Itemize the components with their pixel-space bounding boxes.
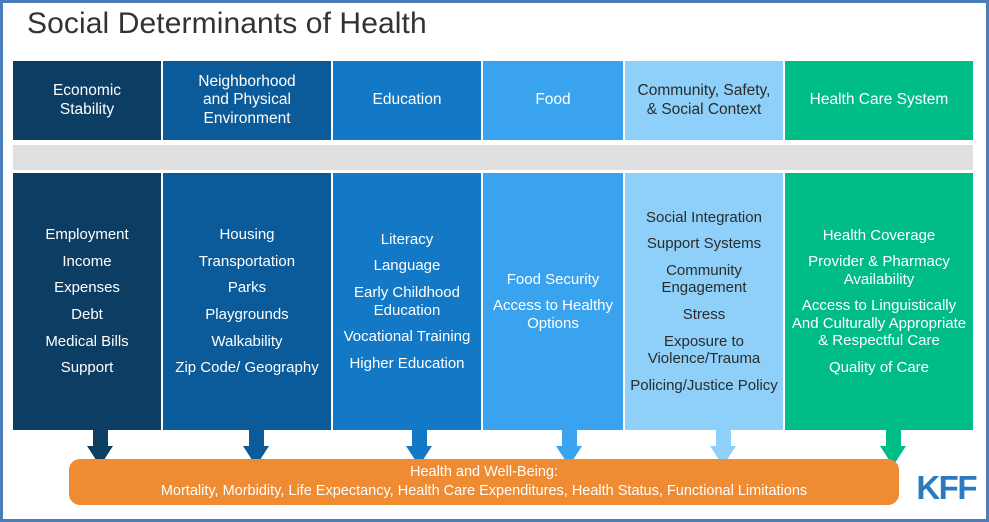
list-item: Medical Bills: [45, 333, 128, 351]
category-header-economic-stability[interactable]: EconomicStability: [13, 61, 161, 140]
separator-band: [13, 145, 973, 170]
list-item: Support Systems: [647, 235, 761, 253]
outcome-banner: Health and Well-Being: Mortality, Morbid…: [69, 459, 899, 505]
list-item: Quality of Care: [829, 359, 929, 377]
category-header-label: Neighborhoodand PhysicalEnvironment: [198, 73, 295, 128]
category-header-label: EconomicStability: [53, 82, 121, 119]
list-item: Employment: [45, 226, 128, 244]
outcome-heading: Health and Well-Being:: [410, 464, 558, 481]
list-item: Access to Healthy Options: [488, 297, 618, 332]
list-item: Expenses: [54, 279, 120, 297]
category-header-health-care-system[interactable]: Health Care System: [785, 61, 973, 140]
list-item: Exposure to Violence/Trauma: [630, 333, 778, 368]
kff-logo: KFF: [916, 469, 976, 507]
arrow-stem: [412, 430, 427, 446]
category-items-education: LiteracyLanguageEarly Childhood Educatio…: [333, 173, 481, 430]
list-item: Food Security: [507, 271, 600, 289]
list-item: Vocational Training: [344, 328, 471, 346]
category-items-health-care-system: Health CoverageProvider & Pharmacy Avail…: [785, 173, 973, 430]
category-body-row: EmploymentIncomeExpensesDebtMedical Bill…: [13, 173, 973, 430]
arrow-stem: [562, 430, 577, 446]
category-items-economic-stability: EmploymentIncomeExpensesDebtMedical Bill…: [13, 173, 161, 430]
category-header-education[interactable]: Education: [333, 61, 481, 140]
infographic-root: Social Determinants of Health EconomicSt…: [0, 0, 989, 522]
arrow-stem: [93, 430, 108, 446]
outcome-detail: Mortality, Morbidity, Life Expectancy, H…: [161, 483, 807, 500]
category-items-food: Food SecurityAccess to Healthy Options: [483, 173, 623, 430]
category-items-neighborhood-and-physical-environment: HousingTransportationParksPlaygroundsWal…: [163, 173, 331, 430]
list-item: Policing/Justice Policy: [630, 377, 778, 395]
list-item: Stress: [683, 306, 726, 324]
category-header-label: Food: [535, 91, 570, 109]
list-item: Housing: [219, 226, 274, 244]
list-item: Access to Linguistically And Culturally …: [790, 297, 968, 350]
category-header-neighborhood-and-physical-environment[interactable]: Neighborhoodand PhysicalEnvironment: [163, 61, 331, 140]
list-item: Income: [62, 253, 111, 271]
list-item: Early Childhood Education: [338, 284, 476, 319]
category-header-label: Community, Safety,& Social Context: [638, 82, 771, 119]
arrow-stem: [886, 430, 901, 446]
page-title: Social Determinants of Health: [27, 7, 427, 41]
list-item: Language: [374, 257, 441, 275]
list-item: Parks: [228, 279, 266, 297]
list-item: Walkability: [211, 333, 282, 351]
arrow-stem: [249, 430, 264, 446]
list-item: Literacy: [381, 231, 434, 249]
list-item: Community Engagement: [630, 262, 778, 297]
list-item: Debt: [71, 306, 103, 324]
list-item: Provider & Pharmacy Availability: [790, 253, 968, 288]
list-item: Playgrounds: [205, 306, 288, 324]
arrow-stem: [716, 430, 731, 446]
list-item: Social Integration: [646, 209, 762, 227]
category-header-food[interactable]: Food: [483, 61, 623, 140]
list-item: Transportation: [199, 253, 295, 271]
category-header-row: EconomicStabilityNeighborhoodand Physica…: [13, 61, 973, 140]
list-item: Zip Code/ Geography: [175, 359, 318, 377]
list-item: Higher Education: [349, 355, 464, 373]
category-header-community-safety-social-context[interactable]: Community, Safety,& Social Context: [625, 61, 783, 140]
list-item: Health Coverage: [823, 227, 936, 245]
list-item: Support: [61, 359, 114, 377]
category-header-label: Health Care System: [810, 91, 949, 109]
category-items-community-safety-social-context: Social IntegrationSupport SystemsCommuni…: [625, 173, 783, 430]
category-header-label: Education: [373, 91, 442, 109]
